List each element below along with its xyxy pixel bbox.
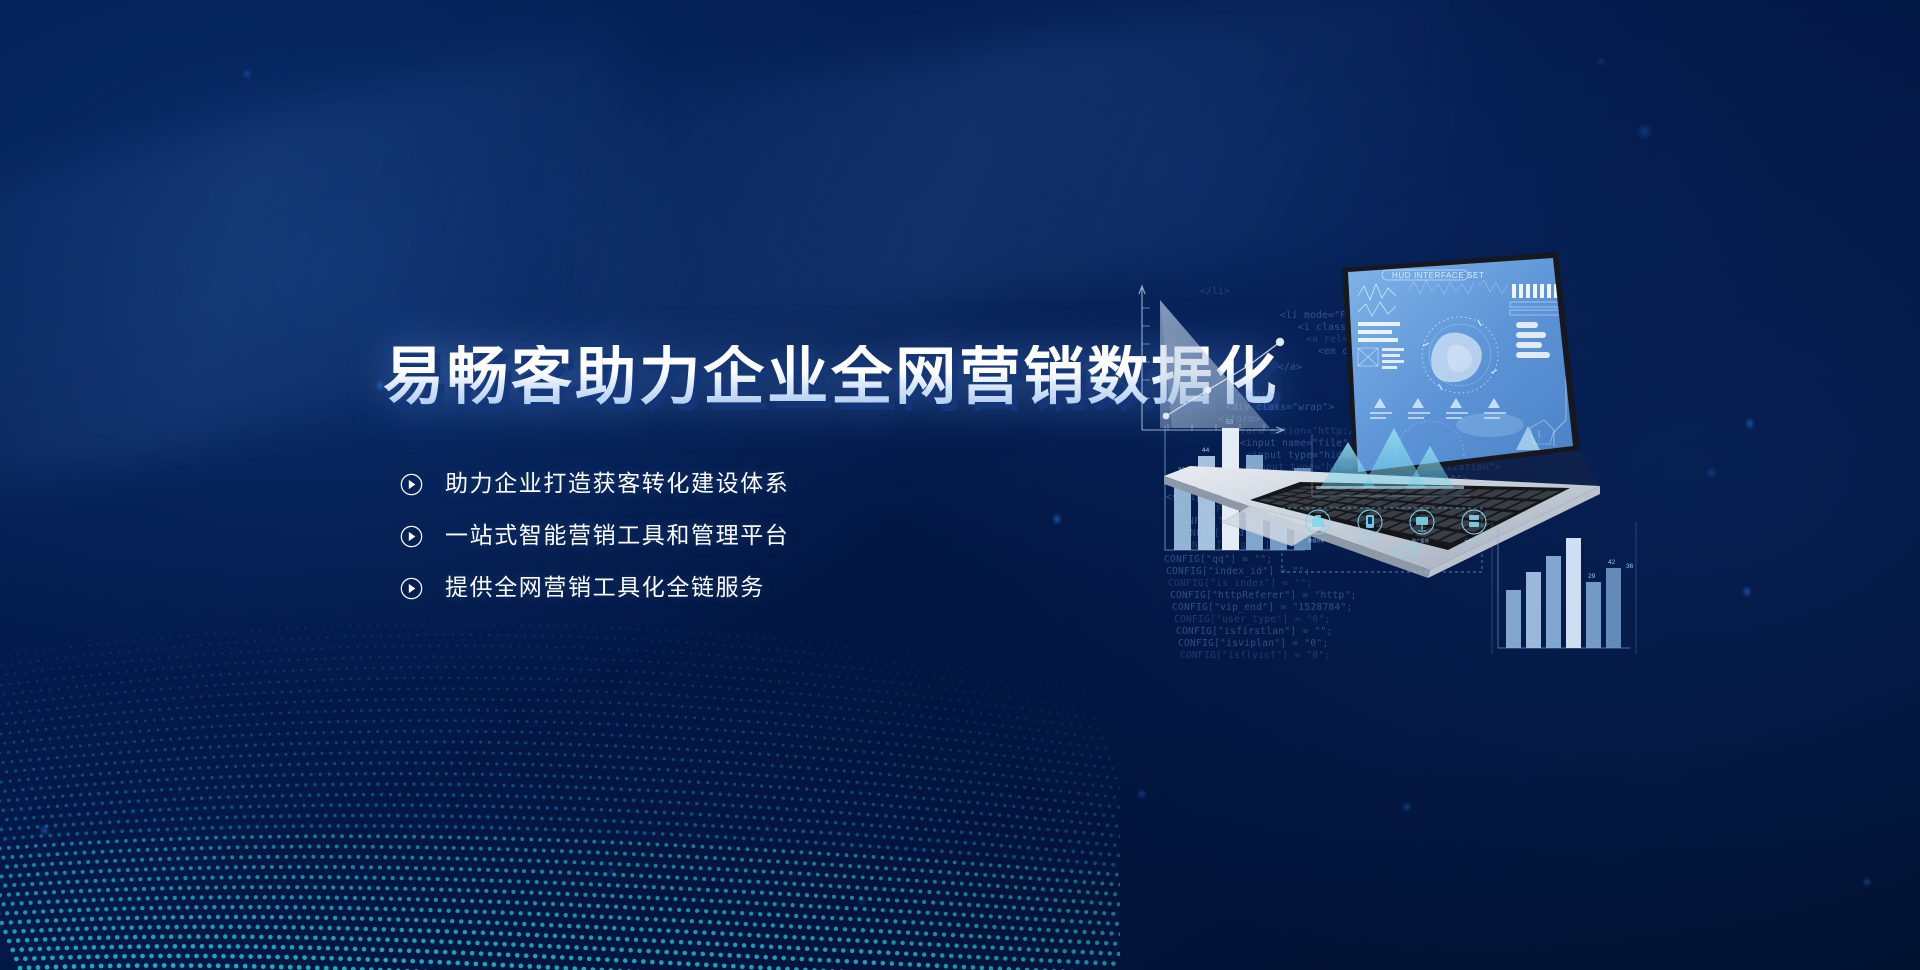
background-code-line: <li mode="PPT"> [1280, 310, 1370, 321]
keyboard-key [1293, 493, 1314, 497]
hud-icon-caption: 云端服务 [1464, 537, 1482, 544]
keyboard-key [1362, 518, 1386, 526]
background-code-line: CONFIG["httpReferer"] = "http"; [1170, 590, 1357, 601]
mountain-peaks-overlay [1312, 428, 1470, 496]
glow-dot [1430, 318, 1433, 324]
keyboard-key [1513, 490, 1544, 498]
background-code-line: CONFIG["isflyicf"] = "0"; [1180, 650, 1331, 661]
list-item: 助力企业打造获客转化建设体系 [400, 468, 789, 500]
keyboard-key [1365, 509, 1389, 516]
glow-dot [1140, 792, 1144, 796]
glow-dot [1710, 470, 1713, 475]
keyboard-key [1268, 495, 1287, 499]
hero-banner: 易畅客助力企业全网营销数据化 助力企业打造获客转化建设体系 一站式智能营销工具和… [0, 0, 1920, 970]
keyboard-key [1375, 520, 1400, 528]
keyboard-key [1485, 512, 1515, 522]
keyboard-key [1315, 486, 1337, 489]
glow-dot [1865, 880, 1869, 884]
keyboard-key [1396, 503, 1422, 510]
background-code-line: CONFIG["isviplan"] = "0"; [1178, 638, 1329, 649]
svg-text:44: 44 [1202, 447, 1210, 454]
keyboard-key [1496, 490, 1526, 498]
keyboard-key [1463, 489, 1492, 496]
background-code-line: <form action="http://v0.api.upyun.com/bu… [1234, 426, 1511, 437]
keyboard-key [1351, 507, 1375, 514]
page-title: 易畅客助力企业全网营销数据化 [383, 345, 1279, 408]
keyboard-key [1351, 493, 1375, 498]
keyboard-key [1271, 501, 1290, 506]
list-item-label: 提供全网营销工具化全链服务 [445, 577, 765, 600]
background-code-line: <input type="hidden" name="policy"> [1246, 450, 1457, 461]
background-code-line: CONFIG["is_index"] = ""; [1168, 578, 1312, 589]
glow-dot [1405, 805, 1409, 809]
background-code-line: CONFIG["isfirstlan"] = ""; [1176, 626, 1333, 637]
keyboard-key [1401, 525, 1427, 534]
keyboard-key [1278, 492, 1298, 496]
background-code-line: CONFIG["login"] = "1"; [1180, 540, 1312, 551]
keyboard-key [1414, 488, 1440, 494]
keyboard-key [1310, 508, 1332, 514]
keyboard-key [1445, 498, 1473, 506]
keyboard-key [1449, 520, 1477, 530]
background-code-line: <i class="checked"></i> [1298, 322, 1436, 333]
keyboard-key [1349, 515, 1373, 523]
keyboard-key [1298, 486, 1320, 489]
background-code-line: <input name="file" type="file" id="file"… [1240, 438, 1487, 449]
background-code-line: </li> [1200, 286, 1230, 297]
circle-play-icon [400, 473, 423, 496]
background-code-line: CONFIG["index_id"] = ""; [1166, 566, 1310, 577]
svg-text:42: 42 [1608, 559, 1616, 566]
right-bar-chart: 29 42 36 [1492, 522, 1636, 654]
glow-dot [1055, 515, 1059, 523]
background-code-line: var CONFIG = {}; [1174, 504, 1270, 515]
keyboard-key [1407, 514, 1433, 522]
keyboard-key [1331, 487, 1354, 491]
keyboard-key [1382, 494, 1407, 500]
background-code-line: CONFIG["vid"] = "0"; [1178, 528, 1298, 539]
background-code-line: </a> [1278, 362, 1302, 373]
keyboard-key [1284, 503, 1304, 509]
hud-icon-caption: 移动营销 [1360, 537, 1377, 544]
keyboard-key [1388, 523, 1414, 532]
svg-text:36: 36 [1626, 563, 1634, 570]
svg-text:29: 29 [1588, 573, 1596, 580]
background-code-line: <script> [1166, 492, 1214, 503]
keyboard-key [1507, 501, 1537, 510]
keyboard-key [1470, 510, 1499, 519]
keyboard-key [1352, 499, 1376, 505]
keyboard-key [1460, 499, 1488, 507]
keyboard-key [1282, 497, 1302, 502]
keyboard-key [1379, 511, 1404, 519]
keyboard-key [1455, 509, 1483, 518]
keyboard-key [1398, 495, 1424, 501]
glow-dot [378, 382, 382, 389]
svg-text:55: 55 [1226, 419, 1234, 426]
keyboard-key [1258, 498, 1277, 503]
left-bar-chart: 32 44 55 25 [1165, 419, 1311, 550]
circle-play-icon [400, 525, 423, 548]
keyboard-key [1381, 488, 1406, 493]
glow-dot [42, 828, 47, 833]
svg-text:25: 25 [1274, 483, 1282, 490]
keyboard-key [1529, 491, 1560, 500]
background-code-line: CONFIG["uid"] = "114"; [1176, 516, 1308, 527]
mobile-icon [1358, 510, 1382, 534]
keyboard-key [1337, 498, 1360, 504]
keyboard-key [1476, 499, 1505, 507]
keyboard-key [1397, 488, 1423, 493]
keyboard-key [1297, 505, 1318, 511]
keyboard-key [1480, 490, 1509, 498]
keyboard-key [1304, 490, 1326, 494]
keyboard-key [1441, 507, 1469, 515]
keyboard-key [1335, 492, 1358, 497]
background-code-line: CONFIG["user_type"] = "0"; [1174, 614, 1331, 625]
svg-text:HUD INTERFACE SET: HUD INTERFACE SET [1392, 271, 1484, 280]
keyboard-key [1426, 506, 1453, 514]
glow-dot [245, 72, 249, 76]
keyboard-key [1491, 500, 1521, 509]
laptop-device: HUD INTERFACE SET [1164, 252, 1606, 578]
keyboard-key [1338, 505, 1361, 511]
keyboard-key [1430, 489, 1457, 495]
hud-icon-row: 数据分析 移动营销 推广管理 云端服务 [1282, 508, 1486, 572]
keyboard-key [1447, 489, 1475, 496]
keyboard-key [1414, 528, 1441, 538]
hud-icon-caption: 推广管理 [1412, 537, 1430, 544]
keyboard-key [1435, 518, 1463, 527]
tech-illustration: </li><li mode="PPT"><i class="checked"><… [1130, 250, 1770, 700]
hud-icon-caption: 数据分析 [1308, 537, 1325, 544]
background-code-line: <input type="hidden" name="authorization… [1248, 462, 1501, 473]
keyboard-key [1367, 500, 1391, 506]
background-code-line: clickEvent() [1344, 486, 1416, 497]
keyboard-key [1440, 533, 1468, 544]
keyboard-key [1323, 496, 1345, 501]
keyboard-key [1310, 501, 1332, 507]
keyboard-key [1427, 530, 1455, 540]
keyboard-key [1320, 491, 1342, 495]
keyboard-key [1382, 502, 1407, 509]
circle-play-icon [400, 577, 423, 600]
glow-dot [610, 870, 613, 873]
keyboard-key [1421, 516, 1448, 525]
background-code-line: </form> [1218, 414, 1260, 425]
list-item: 提供全网营销工具化全链服务 [400, 572, 789, 604]
keyboard-key [1364, 487, 1388, 492]
glow-dot [1745, 588, 1749, 595]
light-sweep-top [546, 0, 1473, 361]
light-sweep-left [0, 30, 685, 510]
keyboard-key [1429, 497, 1456, 504]
list-item: 一站式智能营销工具和管理平台 [400, 520, 789, 552]
keyboard-key [1308, 495, 1330, 500]
background-code-line: <a rel="nofollow" pid="0"> [1306, 334, 1463, 345]
glow-dot [1748, 420, 1752, 427]
background-code-line: <input type="button" value="submit"> [1252, 474, 1469, 485]
keyboard-key [1323, 510, 1345, 517]
presentation-icon [1410, 510, 1434, 534]
glow-dot [1220, 490, 1225, 499]
keyboard-key [1393, 512, 1419, 520]
glow-dot [860, 900, 863, 903]
background-code-line: CONFIG["vip_end"] = "1528784"; [1172, 602, 1353, 613]
background-code-line: <em class="cls"> [1318, 346, 1414, 357]
list-item-label: 一站式智能营销工具和管理平台 [445, 525, 789, 548]
keyboard-key [1296, 499, 1317, 504]
glow-dot [1600, 60, 1603, 63]
keyboard-key [1324, 503, 1346, 509]
keyboard-key [1462, 522, 1491, 532]
background-code-line: CONFIG["qq"] = ""; [1164, 554, 1272, 565]
keyboard-key [1366, 493, 1390, 499]
particle-wave-decoration [0, 570, 1120, 970]
glow-dot [1642, 128, 1647, 135]
keyboard-key [1413, 496, 1439, 503]
briefcase-icon [1306, 510, 1330, 534]
keyboard-key [1336, 513, 1359, 520]
svg-text:32: 32 [1178, 467, 1186, 474]
keyboard-key [1288, 489, 1309, 492]
keyboard-key [1348, 487, 1372, 491]
server-icon [1462, 510, 1486, 534]
list-item-label: 助力企业打造获客转化建设体系 [445, 473, 789, 496]
keyboard-key [1411, 505, 1437, 512]
feature-bullet-list: 助力企业打造获客转化建设体系 一站式智能营销工具和管理平台 提供全网营销工具化全… [400, 468, 789, 604]
